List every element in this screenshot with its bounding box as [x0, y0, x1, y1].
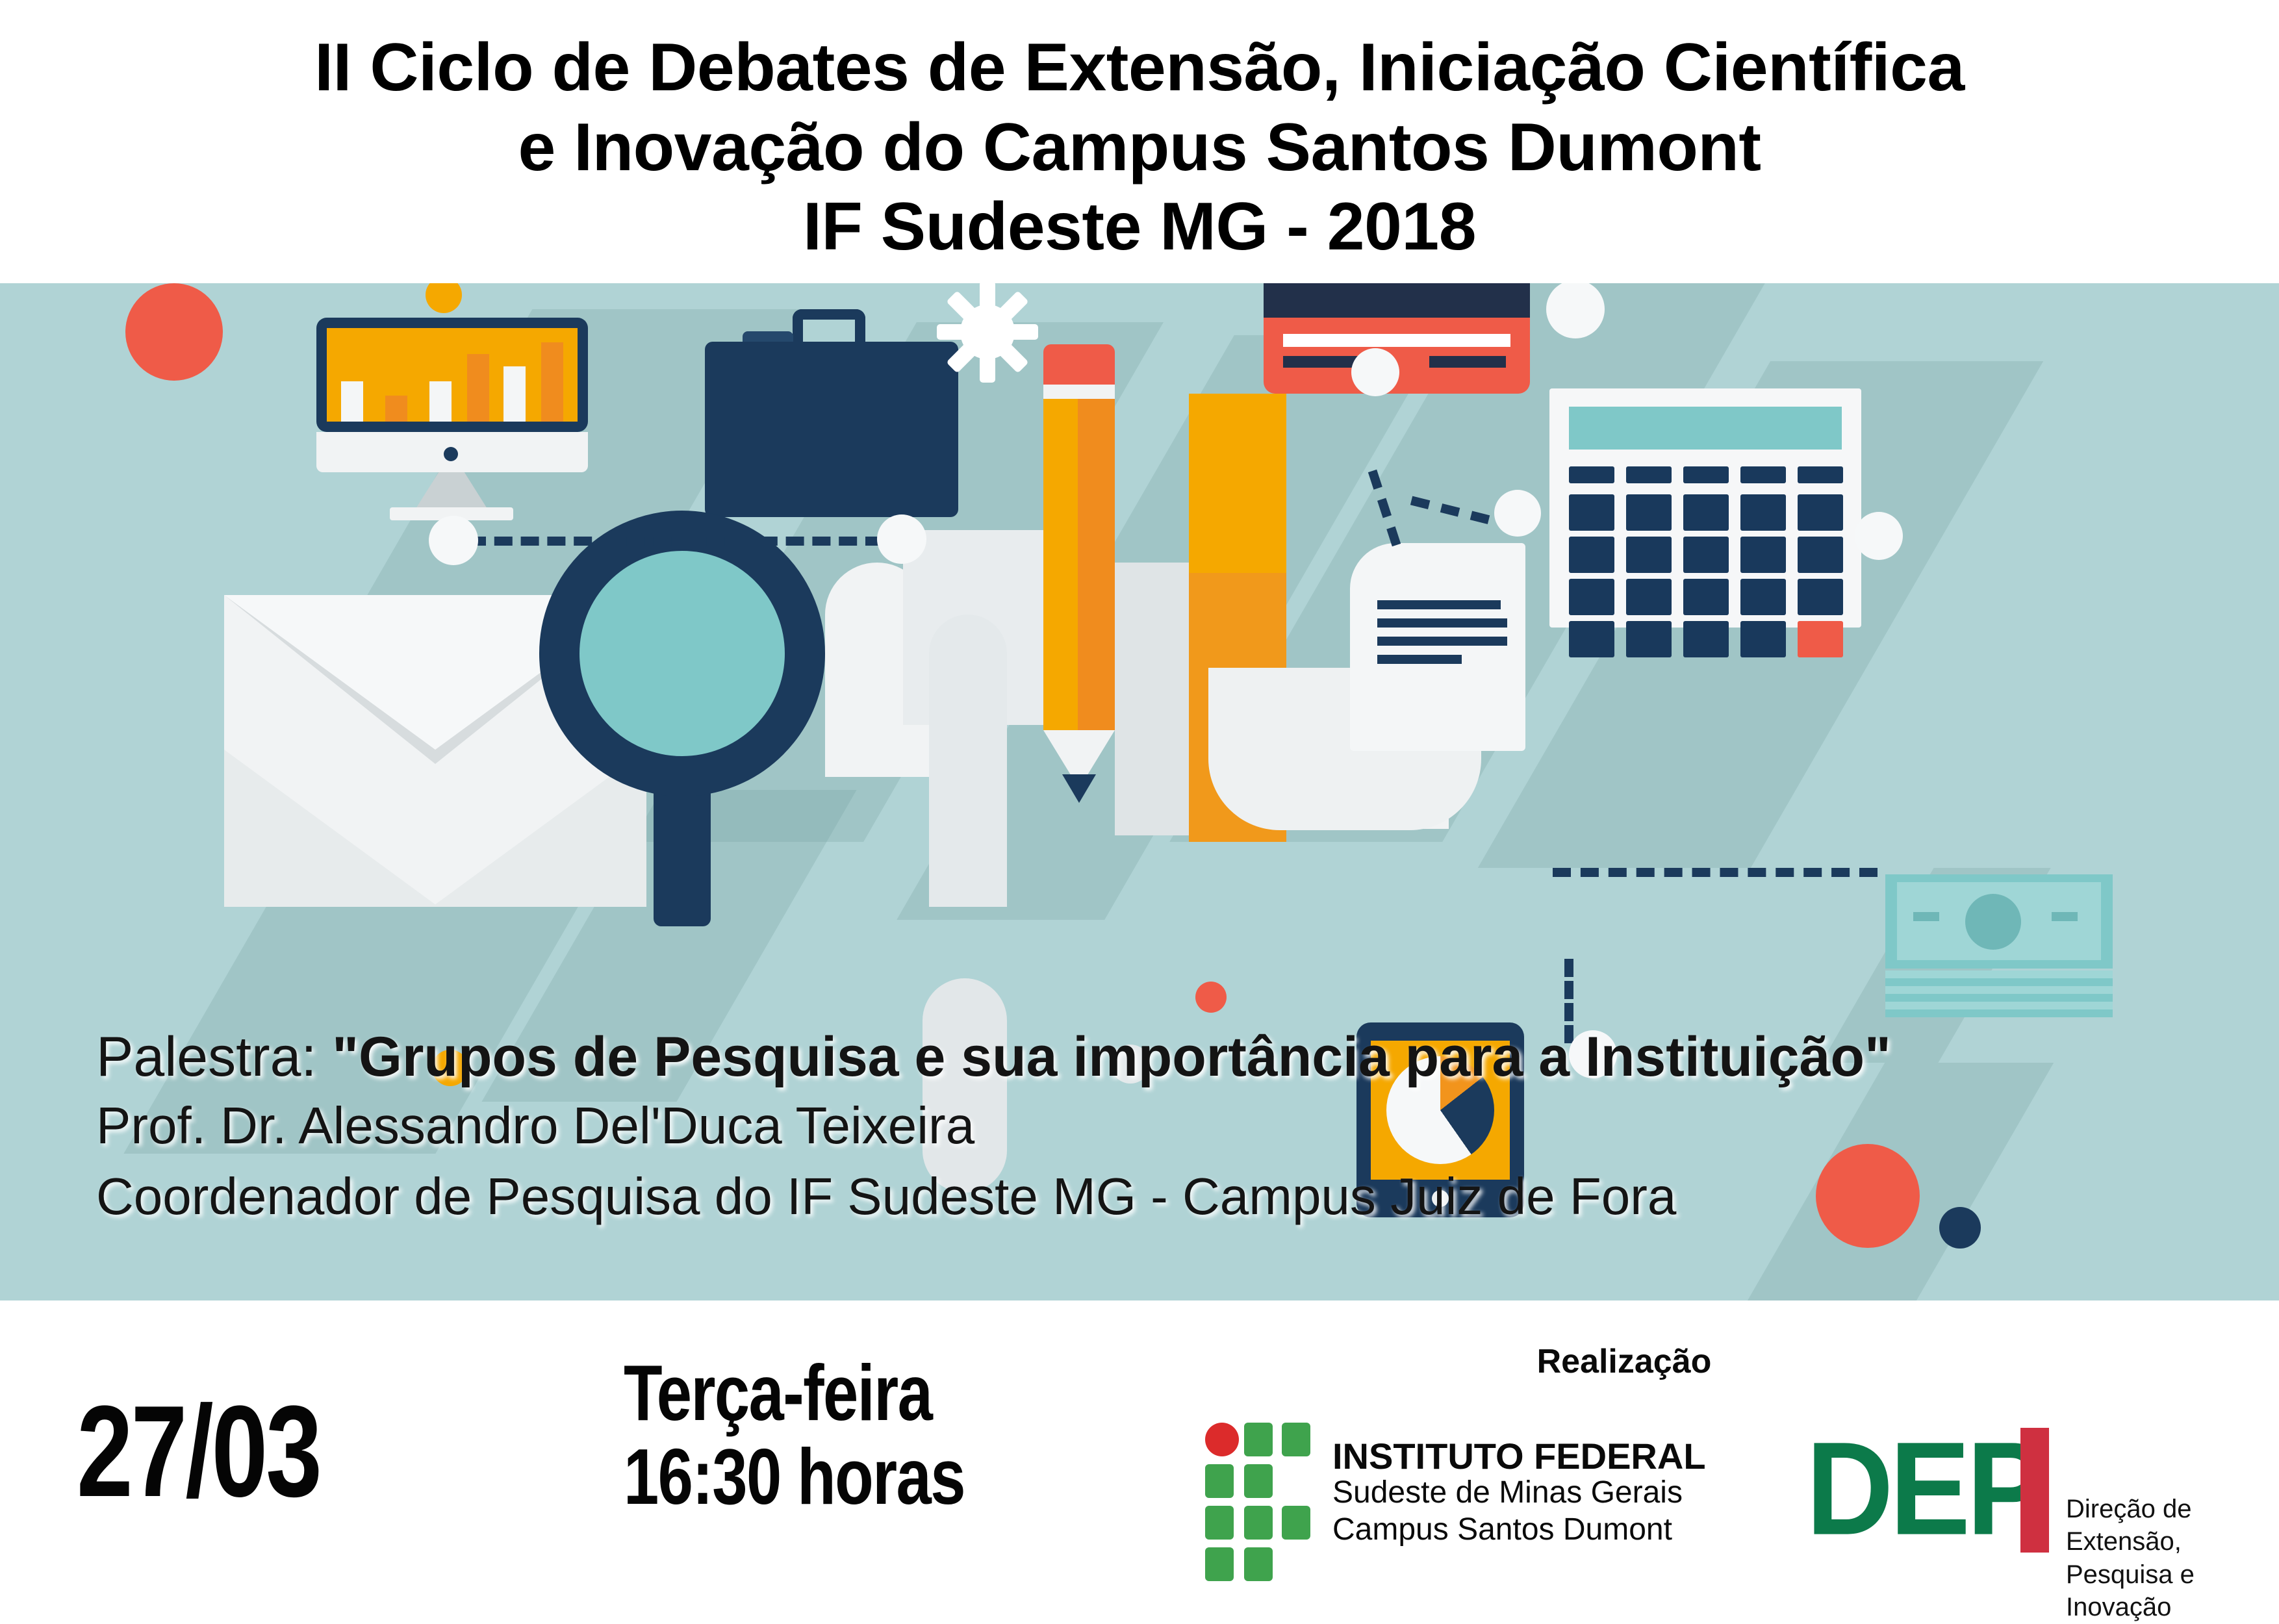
bar-3: [429, 381, 452, 422]
depi-subtitle-line-1: Direção de Extensão,: [2066, 1493, 2261, 1558]
if-logo-cell: [1244, 1464, 1273, 1498]
banknote-layer: [1885, 978, 2113, 986]
event-daytime: Terça-feira 16:30 horas: [624, 1351, 965, 1519]
briefcase-icon: [705, 342, 958, 517]
dashed-connector: [1368, 470, 1401, 546]
monitor-camera-dot-icon: [444, 447, 458, 461]
if-logo-line-2: Sudeste de Minas Gerais: [1332, 1475, 1706, 1512]
banknote-layer: [1885, 1002, 2113, 1009]
depi-acronym-green: DEP: [1806, 1423, 2044, 1555]
talk-details: Palestra: "Grupos de Pesquisa e sua impo…: [96, 1023, 2253, 1233]
calculator-key[interactable]: [1740, 579, 1786, 615]
calculator-key[interactable]: [1569, 537, 1614, 573]
gear-icon: [936, 283, 1039, 384]
bar-4: [467, 354, 489, 422]
monitor-bar-chart-icon: [316, 318, 588, 432]
depi-subtitle-line-2: Pesquisa e Inovação: [2066, 1558, 2261, 1624]
calculator-key[interactable]: [1798, 466, 1843, 483]
calculator-key[interactable]: [1626, 537, 1672, 573]
monitor-screen: [327, 328, 578, 422]
decor-circle-yellow: [426, 283, 462, 313]
event-time: 16:30 horas: [624, 1435, 965, 1519]
if-logo-text: INSTITUTO FEDERAL Sudeste de Minas Gerai…: [1332, 1438, 1706, 1548]
decor-circle-red: [125, 283, 223, 381]
event-date: 27/03: [77, 1377, 320, 1527]
if-logo-cell: [1205, 1506, 1234, 1540]
calculator-key[interactable]: [1683, 466, 1729, 483]
calculator-display: [1569, 407, 1842, 450]
talk-speaker: Prof. Dr. Alessandro Del'Duca Teixeira: [96, 1091, 2253, 1160]
calculator-key[interactable]: [1569, 621, 1614, 657]
bar-1: [341, 381, 363, 422]
poster-header: II Ciclo de Debates de Extensão, Iniciaç…: [0, 0, 2279, 283]
title-line-3: IF Sudeste MG - 2018: [803, 187, 1476, 267]
document-text-line: [1377, 600, 1501, 609]
banknote-dash-left: [1913, 912, 1939, 921]
calculator-key[interactable]: [1626, 621, 1672, 657]
depi-acronym-red-bar-icon: [2020, 1428, 2049, 1553]
banknote-layer: [1885, 986, 2113, 994]
decor-circle-white: [1494, 490, 1541, 537]
if-logo-cell: [1244, 1506, 1273, 1540]
if-logo-line-1: INSTITUTO FEDERAL: [1332, 1438, 1706, 1475]
calculator-key[interactable]: [1683, 537, 1729, 573]
calculator-key[interactable]: [1740, 494, 1786, 531]
calculator-key[interactable]: [1569, 466, 1614, 483]
decor-circle-white: [429, 516, 478, 565]
decor-circle-white: [877, 514, 926, 564]
if-logo-cell: [1244, 1547, 1273, 1581]
document-icon: [1350, 543, 1525, 751]
banknote-layer: [1885, 1009, 2113, 1017]
calculator-key[interactable]: [1798, 537, 1843, 573]
pencil-graphite-tip: [1062, 774, 1096, 803]
if-logo-cell: [1282, 1423, 1310, 1456]
talk-title: "Grupos de Pesquisa e sua importância pa…: [332, 1026, 1891, 1088]
calculator-key[interactable]: [1569, 494, 1614, 531]
magnifier-icon: [539, 511, 825, 796]
credit-card-signature-line: [1283, 334, 1510, 347]
talk-role: Coordenador de Pesquisa do IF Sudeste MG…: [96, 1160, 2253, 1233]
calculator-key[interactable]: [1626, 494, 1672, 531]
decor-circle-white: [1351, 348, 1399, 396]
if-logo-cell: [1205, 1464, 1234, 1498]
event-weekday: Terça-feira: [624, 1351, 965, 1435]
credit-card-number-block-2: [1429, 356, 1506, 368]
title-line-1: II Ciclo de Debates de Extensão, Iniciaç…: [314, 28, 1965, 108]
magnifier-handle: [654, 777, 711, 926]
credit-card-magnetic-strip: [1264, 283, 1530, 318]
banknote-layer: [1885, 971, 2113, 978]
talk-title-line: Palestra: "Grupos de Pesquisa e sua impo…: [96, 1023, 2253, 1091]
calculator-key[interactable]: [1740, 621, 1786, 657]
decor-circle-white: [1546, 283, 1605, 338]
document-text-line: [1377, 637, 1507, 646]
if-logo-red-circle: [1205, 1423, 1239, 1456]
instituto-federal-logo: INSTITUTO FEDERAL Sudeste de Minas Gerai…: [1205, 1423, 1725, 1585]
paper-pill-6: [929, 615, 1007, 907]
realizacao-label: Realização: [1537, 1342, 1712, 1381]
bar-2: [385, 396, 407, 422]
calculator-key[interactable]: [1740, 466, 1786, 483]
bar-6: [541, 342, 563, 422]
calculator-key[interactable]: [1798, 579, 1843, 615]
calculator-key[interactable]: [1740, 537, 1786, 573]
calculator-key[interactable]: [1683, 579, 1729, 615]
dashed-connector: [468, 537, 884, 546]
talk-label: Palestra:: [96, 1026, 332, 1088]
calculator-key[interactable]: [1798, 494, 1843, 531]
calculator-key[interactable]: [1626, 466, 1672, 483]
banknote-dash-right: [2052, 912, 2078, 921]
if-logo-cell: [1282, 1506, 1310, 1540]
document-text-line: [1377, 618, 1507, 628]
decor-circle-red-small: [1195, 982, 1227, 1013]
dashed-connector: [1553, 868, 1878, 877]
monitor-stand: [416, 472, 487, 509]
pencil-ferrule: [1043, 385, 1115, 399]
pencil-eraser: [1043, 344, 1115, 385]
credit-card-number-block-1: [1283, 356, 1360, 368]
calculator-equals-key[interactable]: [1798, 621, 1843, 657]
document-text-line: [1377, 655, 1462, 664]
calculator-key[interactable]: [1569, 579, 1614, 615]
if-logo-cell: [1205, 1547, 1234, 1581]
if-logo-grid-icon: [1205, 1423, 1313, 1585]
title-line-2: e Inovação do Campus Santos Dumont: [518, 108, 1761, 188]
banknote-layer: [1885, 994, 2113, 1002]
depi-logo: DEP Direção de Extensão, Pesquisa e Inov…: [1806, 1423, 2261, 1585]
decor-circle-white: [1855, 512, 1903, 560]
bar-5: [503, 366, 526, 422]
banknote-portrait-circle: [1965, 894, 2021, 950]
if-logo-cell: [1244, 1423, 1273, 1456]
calculator-key[interactable]: [1626, 579, 1672, 615]
calculator-key[interactable]: [1683, 621, 1729, 657]
calculator-key[interactable]: [1683, 494, 1729, 531]
if-logo-line-3: Campus Santos Dumont: [1332, 1512, 1706, 1549]
pencil-icon: [1043, 399, 1115, 730]
depi-subtitle: Direção de Extensão, Pesquisa e Inovação: [2066, 1493, 2261, 1624]
